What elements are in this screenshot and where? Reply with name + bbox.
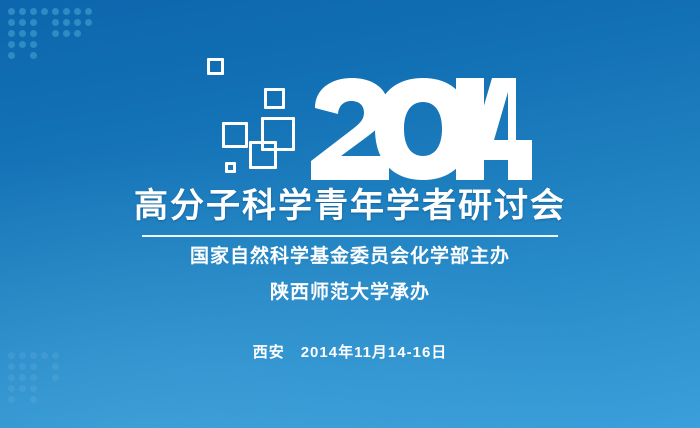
pattern-dot [19,19,26,26]
pattern-dot [19,8,26,15]
pattern-dot [85,19,92,26]
pattern-dot [8,8,15,15]
pattern-dot [8,52,15,59]
pattern-dot [30,52,37,59]
pattern-dot [8,374,15,381]
pattern-dot [52,8,59,15]
square-small-mid [264,88,285,109]
pattern-dot [30,8,37,15]
pattern-dot [30,19,37,26]
pattern-dot [19,363,26,370]
pattern-dot [30,363,37,370]
pattern-dot [8,41,15,48]
pattern-dot [19,374,26,381]
pattern-dot [52,30,59,37]
pattern-dot [30,385,37,392]
pattern-dot [52,363,59,370]
event-date-location: 西安 2014年11月14-16日 [0,341,700,362]
pattern-dot [30,374,37,381]
pattern-dot [52,374,59,381]
pattern-dot [41,8,48,15]
pattern-dot [30,396,37,403]
pattern-dot [63,30,70,37]
pattern-dot [63,8,70,15]
pattern-dot [74,19,81,26]
pattern-dot [8,19,15,26]
conference-poster: 高分子科学青年学者研讨会 国家自然科学基金委员会化学部主办 陕西师范大学承办 西… [0,0,700,428]
pattern-dot [30,30,37,37]
pattern-dot [19,41,26,48]
square-medium-left [222,122,248,148]
pattern-dot [74,8,81,15]
pattern-dot [8,30,15,37]
pattern-dot [63,19,70,26]
pattern-dot [85,8,92,15]
pattern-dot [52,19,59,26]
page-title: 高分子科学青年学者研讨会 [0,186,700,226]
pattern-dot [8,385,15,392]
organizer-subtitle: 国家自然科学基金委员会化学部主办 [0,245,700,269]
pattern-dot [8,363,15,370]
pattern-dot [8,396,15,403]
square-overlap [249,141,277,169]
square-small-upper [207,58,224,75]
year-2014-numerals-icon [306,78,532,182]
pattern-dot [19,385,26,392]
pattern-dot [30,41,37,48]
host-subtitle: 陕西师范大学承办 [0,281,700,305]
square-tiny [225,162,236,173]
pattern-dot [74,30,81,37]
title-divider [142,235,558,237]
pattern-dot [19,30,26,37]
